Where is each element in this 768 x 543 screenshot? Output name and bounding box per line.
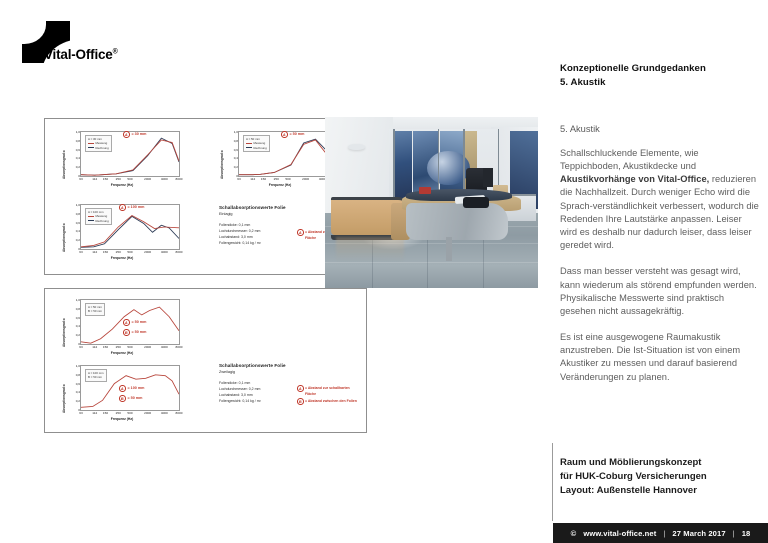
project-caption: Raum und Möblierungskonzept für HUK-Cobu… <box>560 456 760 498</box>
marker-symbol-a: A <box>281 131 288 138</box>
body-paragraph-1: Schallschluckende Elemente, wie Teppichb… <box>560 147 760 253</box>
text-column: Konzeptionelle Grundgedanken 5. Akustik … <box>560 62 760 384</box>
section-heading: 5. Akustik <box>560 124 760 134</box>
ytick: 0,4 <box>234 156 238 160</box>
xtick: 112 <box>92 177 97 181</box>
page-title-line1: Konzeptionelle Grundgedanken <box>560 62 760 76</box>
xtick: 63 <box>79 345 82 349</box>
chart-a30: Absorptionsgrad α 1,0 0,8 0,6 0,4 0,2 0 … <box>61 129 183 191</box>
legend-line: B = 50 mm <box>88 375 104 379</box>
marker-symbol-a: A <box>297 229 304 236</box>
chart-a50-b50-legend: A = 50 mm B = 50 mm <box>85 303 105 316</box>
ytick: 0,4 <box>76 390 80 394</box>
ytick: 0,6 <box>76 382 80 386</box>
ytick: 0,2 <box>76 165 80 169</box>
xtick: 63 <box>79 177 82 181</box>
xtick: 150 <box>261 177 266 181</box>
marker-label: = 30 mm <box>132 132 147 136</box>
ytick: 1,0 <box>76 298 80 302</box>
chart-a100-b50-ylabel: Absorptionsgrad α <box>62 384 66 413</box>
marker-label: = 50 mm <box>128 396 143 400</box>
marker-symbol-b: B <box>297 398 304 405</box>
chart-a100-legend: A = 100 mm Messung Rechnung <box>85 208 112 225</box>
xtick: 8000 <box>176 250 183 254</box>
chart-a50-b50: Absorptionsgrad α 1,0 0,8 0,6 0,4 0,2 0 … <box>61 297 183 359</box>
project-line2: für HUK-Coburg Versicherungen <box>560 470 760 484</box>
chart-a100-annotation: A = 100 mm <box>119 204 144 211</box>
ytick: 1,0 <box>76 203 80 207</box>
ytick: 0,2 <box>76 333 80 337</box>
diagram-panel-einlagig: Absorptionsgrad α 1,0 0,8 0,6 0,4 0,2 0 … <box>44 118 367 275</box>
xtick: 250 <box>116 345 121 349</box>
legend-entry: Rechnung <box>254 146 267 150</box>
xtick: 500 <box>127 177 132 181</box>
page-title: Konzeptionelle Grundgedanken 5. Akustik <box>560 62 760 90</box>
chart-a50-b50-annotation-a: A = 50 mm <box>123 319 146 326</box>
xtick: 112 <box>92 345 97 349</box>
legend-text: = Abstand zwischen den Folien <box>305 398 357 404</box>
ytick: 0,4 <box>76 324 80 328</box>
xtick: 63 <box>79 411 82 415</box>
marker-symbol-a: A <box>297 385 304 392</box>
caption-title: Schallabsorptionswerte Folie <box>219 363 361 368</box>
xtick: 4000 <box>161 411 168 415</box>
ytick: 0,8 <box>76 307 80 311</box>
page-footer: © www.vital-office.net | 27 March 2017 |… <box>553 523 768 543</box>
xtick: 4000 <box>161 177 168 181</box>
ytick: 0,2 <box>76 399 80 403</box>
marker-label: = 50 mm <box>290 132 305 136</box>
xtick: 2000 <box>302 177 309 181</box>
copyright-icon: © <box>571 529 577 538</box>
brand-logo: Vital-Office® <box>22 21 142 63</box>
footer-separator: | <box>733 529 735 538</box>
caption-legend: A = Abstand zur schallharten Fläche B = … <box>297 385 361 405</box>
project-line3: Layout: Außenstelle Hannover <box>560 484 760 498</box>
project-line1: Raum und Möblierungskonzept <box>560 456 760 470</box>
ytick: 0,8 <box>234 139 238 143</box>
xtick: 250 <box>116 411 121 415</box>
xtick: 500 <box>127 411 132 415</box>
xtick: 4000 <box>161 345 168 349</box>
xtick: 63 <box>237 177 240 181</box>
chart-a50-b50-ylabel: Absorptionsgrad α <box>62 318 66 347</box>
body-paragraph-3: Es ist eine ausgewogene Raumakustik anzu… <box>560 331 760 384</box>
caption-subtitle: Zweilagig <box>219 370 361 374</box>
chart-a100-b50-xlabel: Frequenz (Hz) <box>61 417 183 421</box>
ytick: 0,4 <box>76 156 80 160</box>
chart-a50-annotation: A = 50 mm <box>281 131 304 138</box>
chart-a100-b50-annotation-a: A = 100 mm <box>119 385 144 392</box>
ytick: 0,6 <box>234 148 238 152</box>
marker-label: = 100 mm <box>128 386 145 390</box>
chart-a50-ylabel: Absorptionsgrad α <box>220 150 224 179</box>
page-title-line2: 5. Akustik <box>560 76 760 90</box>
ytick: 0,4 <box>76 229 80 233</box>
diagram-panel-zweilagig: Absorptionsgrad α 1,0 0,8 0,6 0,4 0,2 0 … <box>44 288 367 433</box>
chart-a30-ylabel: Absorptionsgrad α <box>62 150 66 179</box>
xtick: 112 <box>250 177 255 181</box>
footer-page-number: 18 <box>742 529 751 538</box>
chart-a100-b50-annotation-b: B = 50 mm <box>119 395 142 402</box>
ytick: 0,6 <box>76 221 80 225</box>
xtick: 4000 <box>161 250 168 254</box>
chart-a50: Absorptionsgrad α 1,0 0,8 0,6 0,4 0,2 0 … <box>219 129 341 191</box>
body-paragraph-2: Dass man besser versteht was gesagt wird… <box>560 265 760 318</box>
chart-a50-b50-xlabel: Frequenz (Hz) <box>61 351 183 355</box>
footer-separator: | <box>663 529 665 538</box>
xtick: 250 <box>274 177 279 181</box>
ytick: 0,8 <box>76 212 80 216</box>
chart-a100-b50: Absorptionsgrad α 1,0 0,8 0,6 0,4 0,2 0 … <box>61 363 183 425</box>
ytick: 0,6 <box>76 316 80 320</box>
chart-a100-ylabel: Absorptionsgrad α <box>62 223 66 252</box>
xtick: 112 <box>92 250 97 254</box>
marker-label: = 50 mm <box>132 320 147 324</box>
ytick: 0,2 <box>234 165 238 169</box>
chart-a30-legend: A = 30 mm Messung Rechnung <box>85 135 112 152</box>
xtick: 2000 <box>144 177 151 181</box>
ytick: 1,0 <box>76 130 80 134</box>
chart-a100-xlabel: Frequenz (Hz) <box>61 256 183 260</box>
chart-a50-b50-annotation-b: B = 50 mm <box>123 329 146 336</box>
xtick: 8000 <box>176 411 183 415</box>
xtick: 150 <box>103 177 108 181</box>
footer-date: 27 March 2017 <box>672 529 725 538</box>
ytick: 0,8 <box>76 139 80 143</box>
xtick: 150 <box>103 345 108 349</box>
chart-a100-b50-legend: A = 100 mm B = 50 mm <box>85 369 107 382</box>
marker-symbol-b: B <box>119 395 126 402</box>
marker-symbol-a: A <box>119 385 126 392</box>
xtick: 63 <box>79 250 82 254</box>
marker-symbol-a: A <box>119 204 126 211</box>
closing-divider <box>552 443 553 521</box>
marker-symbol-a: A <box>123 319 130 326</box>
xtick: 500 <box>127 250 132 254</box>
chart-a50-legend: A = 50 mm Messung Rechnung <box>243 135 270 152</box>
legend-entry: Rechnung <box>96 219 109 223</box>
ytick: 0,6 <box>76 148 80 152</box>
xtick: 500 <box>127 345 132 349</box>
ytick: 1,0 <box>76 364 80 368</box>
chart-a30-annotation: A = 30 mm <box>123 131 146 138</box>
ytick: 0,8 <box>76 373 80 377</box>
xtick: 112 <box>92 411 97 415</box>
marker-symbol-b: B <box>123 329 130 336</box>
xtick: 250 <box>116 250 121 254</box>
chart-a100: Absorptionsgrad α 1,0 0,8 0,6 0,4 0,2 0 … <box>61 202 183 264</box>
brand-name: Vital-Office® <box>44 47 118 62</box>
legend-text: = Abstand zur schallharten Fläche <box>305 385 361 397</box>
xtick: 250 <box>116 177 121 181</box>
xtick: 500 <box>285 177 290 181</box>
xtick: 150 <box>103 411 108 415</box>
footer-website[interactable]: www.vital-office.net <box>583 529 656 538</box>
chart-a30-xlabel: Frequenz (Hz) <box>61 183 183 187</box>
marker-label: = 100 mm <box>128 205 145 209</box>
xtick: 2000 <box>144 250 151 254</box>
marker-symbol-a: A <box>123 131 130 138</box>
ytick: 1,0 <box>234 130 238 134</box>
xtick: 8000 <box>176 177 183 181</box>
xtick: 8000 <box>176 345 183 349</box>
office-interior-photo <box>325 117 538 288</box>
legend-entry: Rechnung <box>96 146 109 150</box>
caption-zweilagig: Schallabsorptionswerte Folie Zweilagig F… <box>219 363 361 404</box>
chart-a50-xlabel: Frequenz (Hz) <box>219 183 341 187</box>
marker-label: = 50 mm <box>132 330 147 334</box>
xtick: 150 <box>103 250 108 254</box>
ytick: 0,2 <box>76 238 80 242</box>
xtick: 2000 <box>144 411 151 415</box>
legend-line: B = 50 mm <box>88 309 102 313</box>
xtick: 2000 <box>144 345 151 349</box>
